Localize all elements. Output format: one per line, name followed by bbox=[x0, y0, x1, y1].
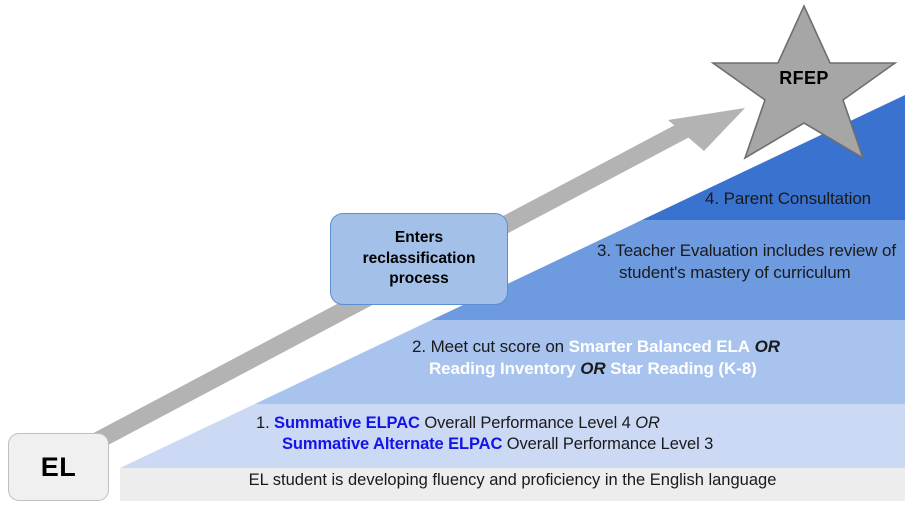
band-4-number: 4. bbox=[705, 189, 719, 208]
el-student-box[interactable]: EL bbox=[8, 433, 109, 501]
band-4-label: 4. Parent Consultation bbox=[705, 188, 871, 210]
enters-line-1: Enters bbox=[395, 229, 443, 246]
diagram-canvas: RFEP 4. Parent Consultation 3. Teacher E… bbox=[0, 0, 920, 515]
band-2-assessment-smarter-balanced: Smarter Balanced ELA bbox=[569, 337, 750, 356]
enters-line-2: reclassification bbox=[363, 250, 476, 267]
band-1-line-2: Summative Alternate ELPAC Overall Perfor… bbox=[256, 434, 713, 455]
band-2-line-1: 2. Meet cut score on Smarter Balanced EL… bbox=[412, 337, 780, 356]
rfep-star-label-wrap: RFEP bbox=[706, 2, 902, 162]
band-2-label: 2. Meet cut score on Smarter Balanced EL… bbox=[412, 336, 780, 380]
band-4-text: Parent Consultation bbox=[719, 189, 871, 208]
band-1-label: 1. Summative ELPAC Overall Performance L… bbox=[256, 413, 713, 456]
band-2-or-2: OR bbox=[576, 359, 611, 378]
enters-line-3: process bbox=[389, 270, 448, 287]
rfep-label: RFEP bbox=[706, 68, 902, 89]
band-2-assessment-reading-inventory: Reading Inventory bbox=[429, 359, 576, 378]
band-1-line-1: 1. Summative ELPAC Overall Performance L… bbox=[256, 414, 660, 432]
band-0-label: EL student is developing fluency and pro… bbox=[120, 471, 905, 491]
el-box-label: EL bbox=[41, 452, 77, 483]
band-2-or-1: OR bbox=[750, 337, 780, 356]
band-2-assessment-star-reading: Star Reading (K-8) bbox=[610, 359, 757, 378]
band-1-line2-mid: Overall Performance Level 3 bbox=[502, 435, 713, 453]
band-3-number: 3. bbox=[597, 241, 611, 260]
band-2-number: 2. bbox=[412, 337, 426, 356]
band-1-number: 1. bbox=[256, 414, 270, 432]
band-3-text: Teacher Evaluation includes review of st… bbox=[611, 241, 896, 282]
band-2-line1-pre: Meet cut score on bbox=[426, 337, 569, 356]
band-2-line-2: Reading Inventory OR Star Reading (K-8) bbox=[412, 358, 780, 380]
enters-reclassification-process-box[interactable]: Entersreclassificationprocess bbox=[330, 213, 508, 305]
band-3-label: 3. Teacher Evaluation includes review of… bbox=[597, 240, 919, 284]
band-1-line1-mid: Overall Performance Level 4 bbox=[420, 414, 635, 432]
band-1-assessment-summative-elpac: Summative ELPAC bbox=[274, 414, 420, 432]
enters-box-label: Entersreclassificationprocess bbox=[363, 228, 476, 290]
band-1-assessment-summative-alternate-elpac: Summative Alternate ELPAC bbox=[282, 435, 502, 453]
band-1-or: OR bbox=[635, 414, 660, 432]
